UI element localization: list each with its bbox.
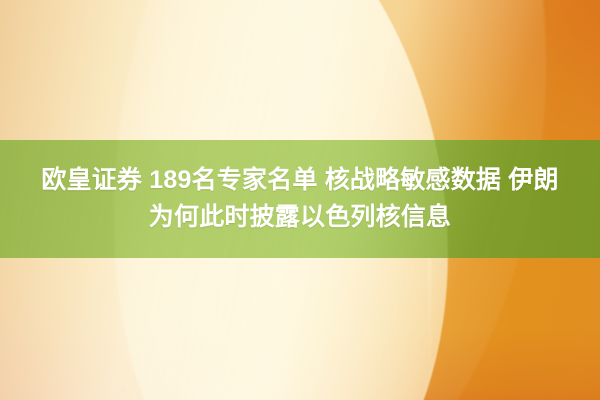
headline-line-2: 为何此时披露以色列核信息 [149,199,451,236]
headline-line-1: 欧皇证券 189名专家名单 核战略敏感数据 伊朗 [41,162,558,199]
promo-banner: 欧皇证券 189名专家名单 核战略敏感数据 伊朗 为何此时披露以色列核信息 [0,0,600,400]
headline-block: 欧皇证券 189名专家名单 核战略敏感数据 伊朗 为何此时披露以色列核信息 [0,140,600,258]
vertical-seam-highlight [428,258,431,400]
